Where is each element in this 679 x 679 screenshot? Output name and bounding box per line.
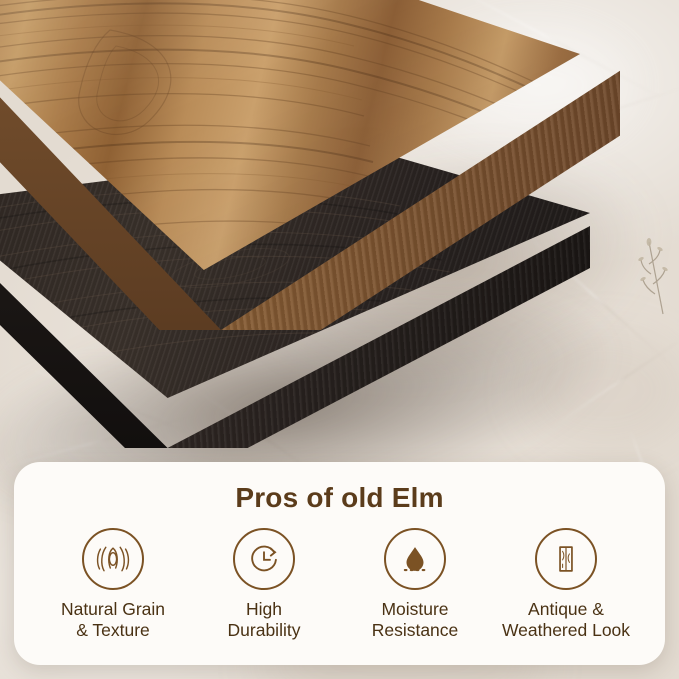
walnut-board	[0, 0, 620, 330]
feature-moisture-resistance: Moisture Resistance	[340, 528, 490, 640]
weathered-plank-glyph	[549, 542, 583, 576]
wood-grain-glyph	[95, 541, 131, 577]
clock-arrow-icon	[233, 528, 295, 590]
card-title: Pros of old Elm	[14, 482, 665, 514]
dried-lavender-sprig-icon	[633, 236, 673, 316]
feature-list: Natural Grain & Texture High Durability	[14, 514, 665, 640]
weathered-plank-icon	[535, 528, 597, 590]
pros-info-card: Pros of old Elm	[14, 462, 665, 665]
feature-natural-grain: Natural Grain & Texture	[38, 528, 188, 640]
product-image: Pros of old Elm	[0, 0, 679, 679]
water-drop-glyph	[398, 542, 432, 576]
feature-antique-look: Antique & Weathered Look	[491, 528, 641, 640]
feature-label: Natural Grain & Texture	[61, 599, 165, 640]
water-drop-icon	[384, 528, 446, 590]
feature-high-durability: High Durability	[189, 528, 339, 640]
wood-grain-icon	[82, 528, 144, 590]
feature-label: High Durability	[228, 599, 301, 640]
feature-label: Antique & Weathered Look	[502, 599, 630, 640]
clock-arrow-glyph	[247, 542, 281, 576]
feature-label: Moisture Resistance	[372, 599, 459, 640]
